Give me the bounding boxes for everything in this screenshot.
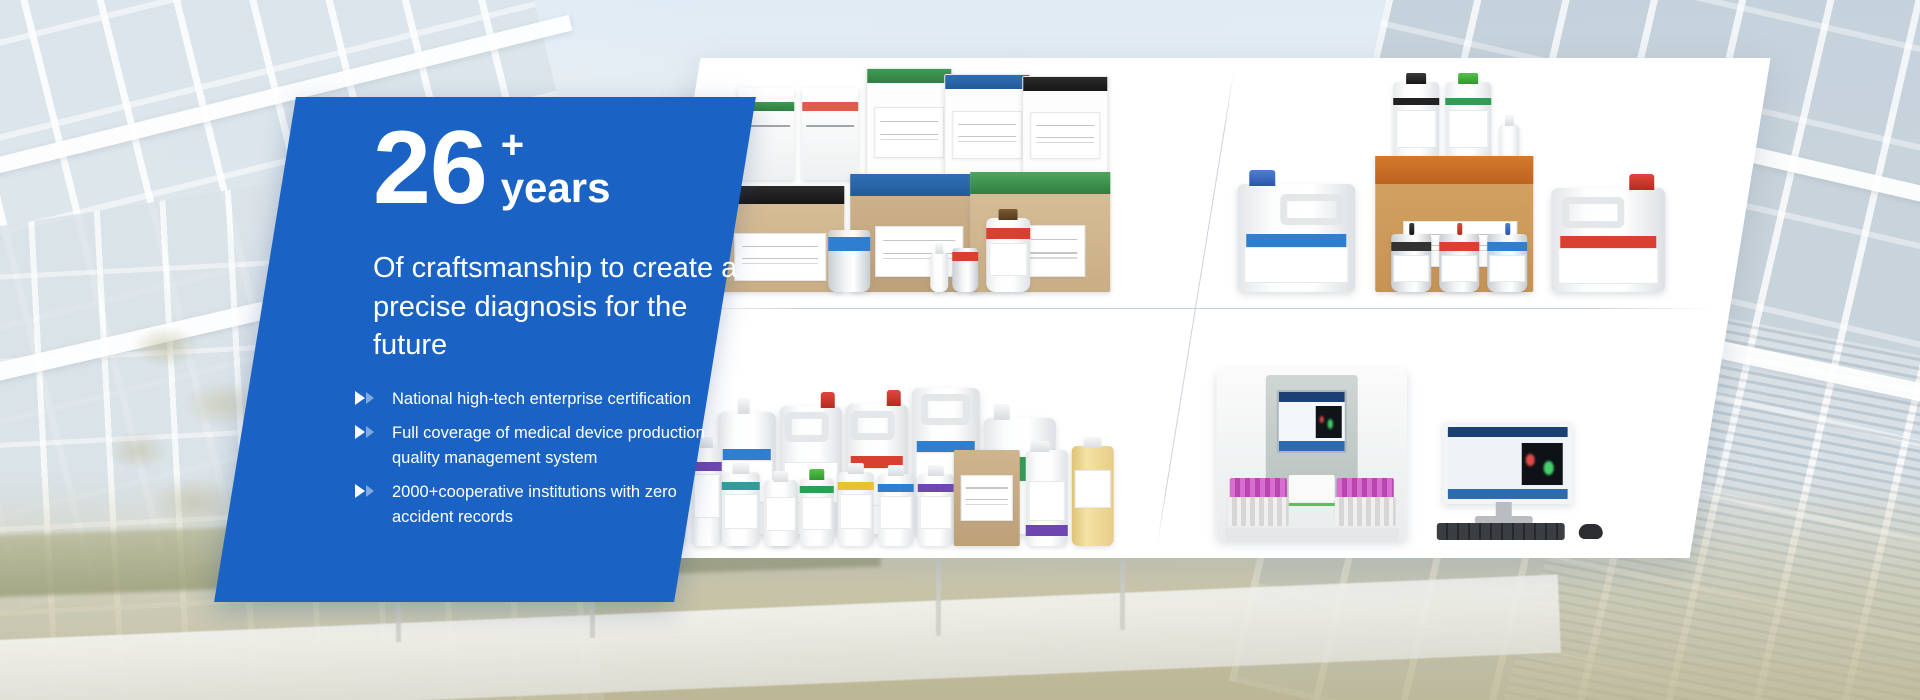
product-bottle <box>1393 82 1439 160</box>
product-bottle <box>838 472 874 546</box>
product-bottle <box>1072 446 1114 546</box>
mouse <box>1579 524 1603 539</box>
product-pouch <box>1391 234 1431 292</box>
product-bottle <box>918 474 954 546</box>
product-box <box>1022 76 1108 176</box>
stat-unit-label: years <box>501 167 611 209</box>
product-pouch <box>952 248 978 292</box>
product-pouch <box>828 230 870 292</box>
product-pouch <box>1439 234 1479 292</box>
pole <box>1120 556 1125 630</box>
double-chevron-right-icon <box>355 391 374 405</box>
product-bottle <box>878 474 914 546</box>
list-item: Full coverage of medical device producti… <box>355 421 715 472</box>
photo-cell-reagent-kit-boxes[interactable] <box>660 58 1235 308</box>
product-box <box>954 450 1020 546</box>
hero-banner: 26 + years Of craftsmanship to create a … <box>0 0 1920 700</box>
feature-list: National high-tech enterprise certificat… <box>355 387 715 539</box>
hematology-analyzer <box>1217 368 1407 540</box>
label-band <box>802 102 858 111</box>
product-bottle <box>1026 450 1068 546</box>
product-pouch <box>1487 234 1527 292</box>
product-bottle <box>800 478 834 546</box>
product-box <box>802 88 858 180</box>
stat-number: 26 <box>373 119 487 218</box>
product-bottle <box>986 218 1030 292</box>
product-jerrycan <box>1551 188 1665 292</box>
list-item-label: 2000+cooperative institutions with zero … <box>392 483 677 527</box>
product-bottle <box>1499 124 1519 160</box>
product-bottle <box>930 252 948 292</box>
monitor-screen <box>1448 427 1568 499</box>
list-item: National high-tech enterprise certificat… <box>355 387 715 413</box>
photo-cell-cleaning-solution-set[interactable] <box>1195 58 1770 308</box>
product-box <box>944 74 1030 176</box>
years-stat: 26 + years <box>373 119 610 218</box>
list-item-label: Full coverage of medical device producti… <box>392 424 705 468</box>
list-item: 2000+cooperative institutions with zero … <box>355 480 715 531</box>
product-photo-panel <box>620 58 1771 558</box>
rack-base-left <box>1228 497 1289 526</box>
product-jerrycan <box>1237 184 1355 292</box>
analyzer-screen <box>1277 390 1346 453</box>
product-box <box>866 68 952 176</box>
workstation-monitor <box>1443 422 1573 504</box>
photo-cell-hematology-analyzer[interactable] <box>1155 308 1730 558</box>
list-item-label: National high-tech enterprise certificat… <box>392 390 691 408</box>
double-chevron-right-icon <box>355 484 374 498</box>
product-bottle <box>1445 82 1491 160</box>
product-bottle <box>764 480 798 546</box>
blue-content-panel: 26 + years Of craftsmanship to create a … <box>214 97 756 602</box>
sample-tube-rack-right <box>1336 478 1393 499</box>
sample-tube-rack-left <box>1230 478 1287 499</box>
stat-plus-symbol: + <box>501 125 524 165</box>
page-title: Of craftsmanship to create a precise dia… <box>373 249 743 365</box>
double-chevron-right-icon <box>355 425 374 439</box>
keyboard <box>1437 523 1565 540</box>
product-bottle <box>722 472 760 546</box>
rack-base-right <box>1335 497 1396 526</box>
